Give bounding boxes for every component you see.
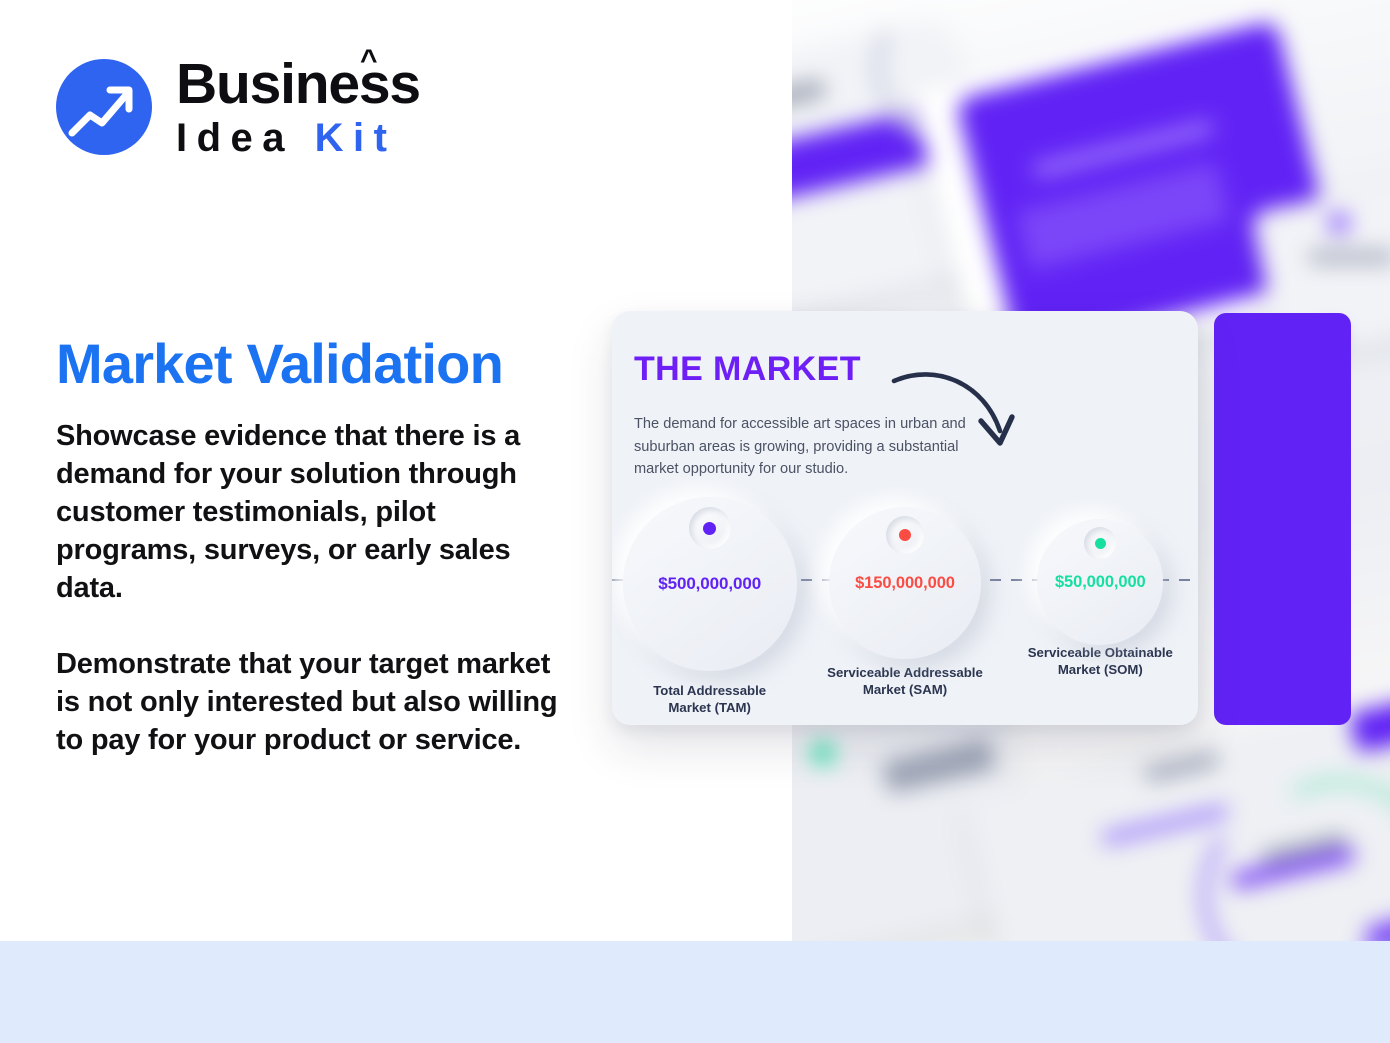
metric-value-tam: $500,000,000 — [658, 574, 761, 594]
metric-value-sam: $150,000,000 — [855, 574, 955, 593]
metric-orb-tam: $500,000,000 — [623, 497, 797, 671]
brand-name-line1-text: Business — [176, 52, 420, 116]
brand-name-line2: Idea Kit — [176, 118, 420, 158]
metric-orb-som: $50,000,000 — [1037, 519, 1163, 645]
market-metrics: $500,000,000 Total Addressable Market (T… — [612, 497, 1198, 717]
bg-purple-chip — [1349, 687, 1390, 753]
body-paragraph-2: Demonstrate that your target market is n… — [56, 646, 566, 760]
brand-wordmark: Business ^ Idea Kit — [176, 56, 420, 158]
brand-name-kit: Kit — [315, 116, 397, 160]
status-dot-icon — [703, 522, 716, 535]
metric-orb-sam: $150,000,000 — [829, 507, 981, 659]
bg-dot — [1328, 212, 1350, 234]
brand-name-idea: Idea — [176, 116, 315, 160]
metric-som: $50,000,000 Serviceable Obtainable Marke… — [1003, 497, 1198, 717]
metric-knob-tam — [689, 507, 731, 549]
status-dot-icon — [1095, 538, 1106, 549]
brand-logo: Business ^ Idea Kit — [56, 56, 420, 158]
purple-accent-bar — [1214, 313, 1351, 725]
curved-arrow-down-right-icon — [888, 355, 1028, 465]
market-card-title: THE MARKET — [634, 352, 861, 386]
growth-arrow-chart-icon — [56, 59, 152, 155]
brand-name-line1: Business ^ — [176, 56, 420, 113]
page-body-copy: Showcase evidence that there is a demand… — [56, 418, 566, 760]
bg-text-line — [1308, 250, 1390, 264]
metric-knob-som — [1084, 527, 1116, 559]
page-title: Market Validation — [56, 334, 503, 394]
slide-market-validation: Business ^ Idea Kit Market Validation Sh… — [0, 0, 1390, 1043]
status-dot-icon — [899, 529, 911, 541]
metric-knob-sam — [886, 516, 924, 554]
metric-sam: $150,000,000 Serviceable Addressable Mar… — [807, 497, 1002, 717]
metric-value-som: $50,000,000 — [1055, 573, 1146, 592]
bottom-accent-strip — [0, 941, 1390, 1043]
brand-circumflex-accent: ^ — [360, 46, 376, 76]
metric-label-som: Serviceable Obtainable Market (SOM) — [1028, 645, 1173, 679]
metric-label-tam: Total Addressable Market (TAM) — [653, 683, 766, 717]
metric-tam: $500,000,000 Total Addressable Market (T… — [612, 497, 807, 717]
metric-label-sam: Serviceable Addressable Market (SAM) — [827, 665, 983, 699]
market-card: THE MARKET The demand for accessible art… — [612, 311, 1198, 725]
bg-dot — [812, 742, 834, 764]
body-paragraph-1: Showcase evidence that there is a demand… — [56, 418, 566, 608]
